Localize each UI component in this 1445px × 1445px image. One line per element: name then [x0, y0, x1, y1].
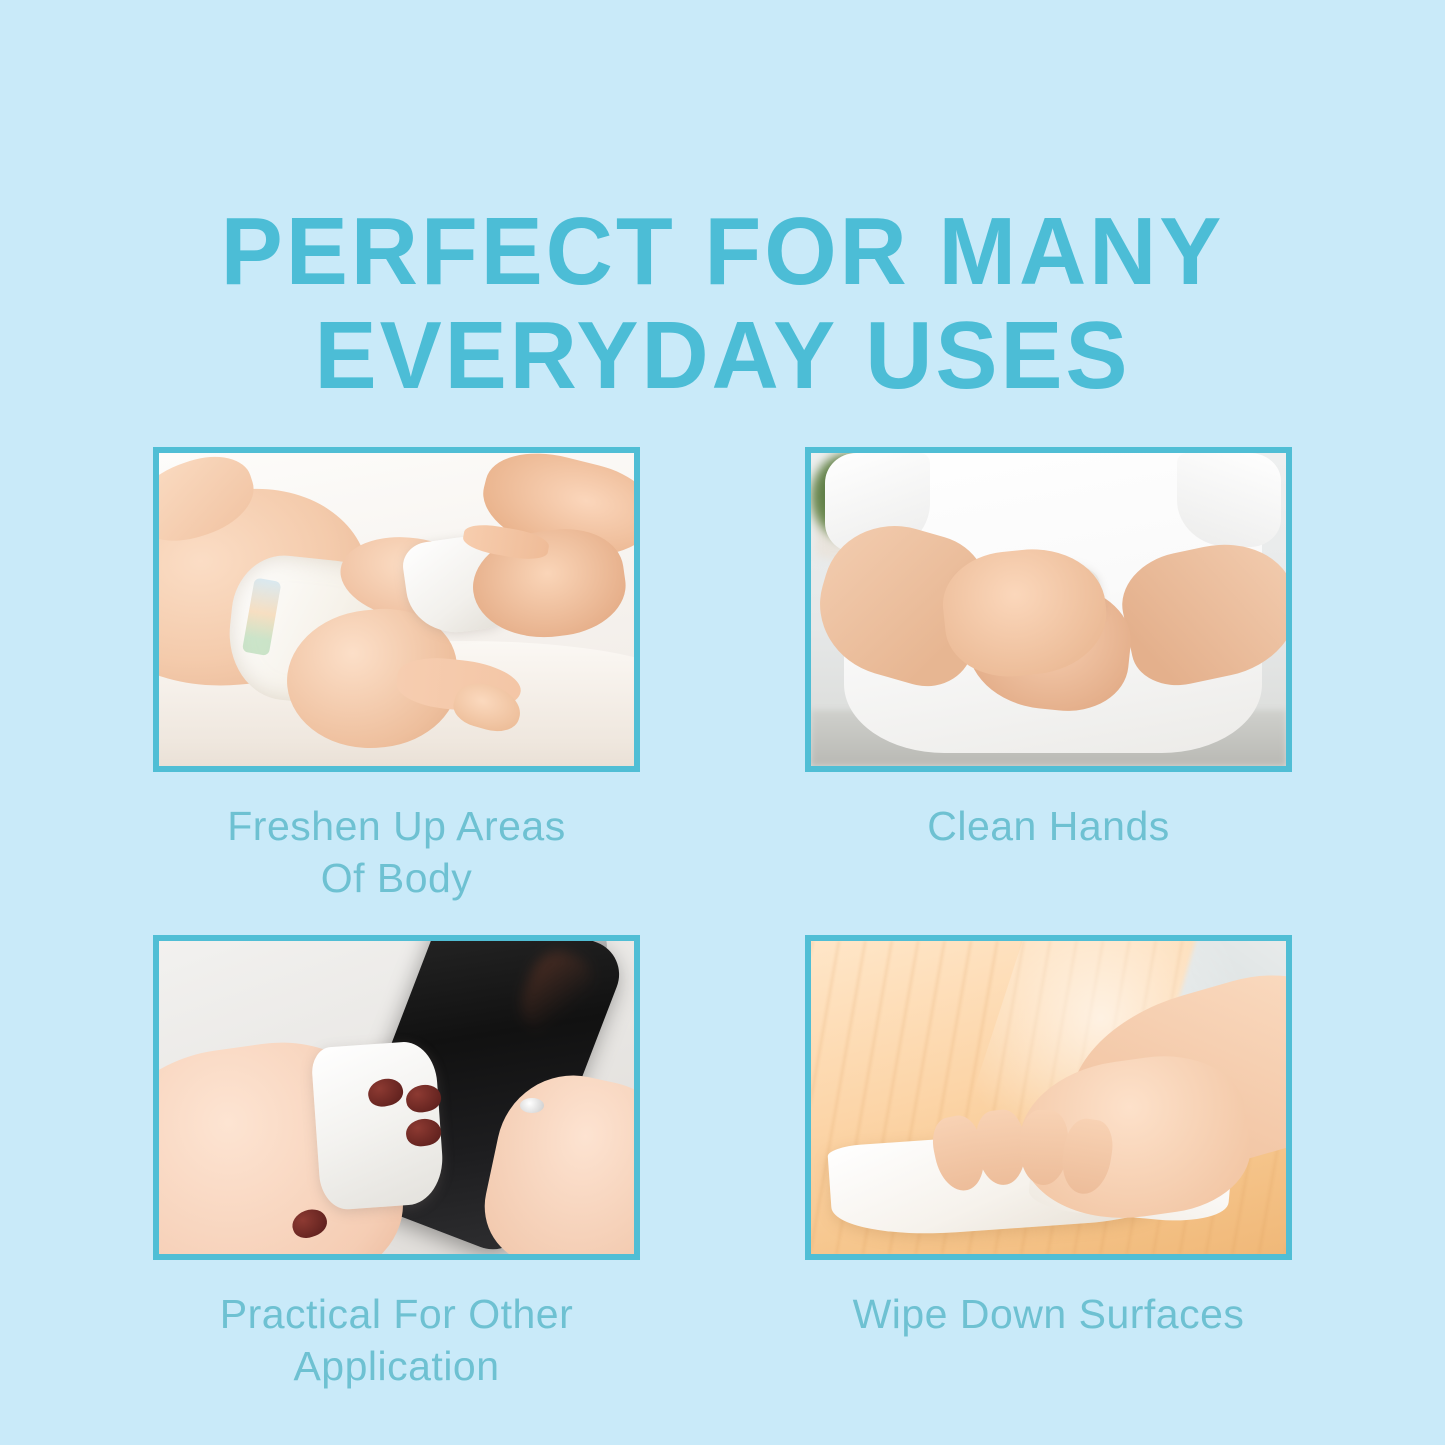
page-title: PERFECT FOR MANY EVERYDAY USES [22, 204, 1424, 404]
use-case-card-freshen-up-areas-of-body: Freshen Up Areas Of Body [153, 447, 640, 904]
photo-baby-diaper-change [159, 453, 634, 766]
use-case-caption-4: Wipe Down Surfaces [805, 1288, 1292, 1340]
page-title-line-1: PERFECT FOR MANY [22, 204, 1424, 300]
photo-frame-4 [805, 935, 1292, 1260]
use-case-caption-3: Practical For Other Application [153, 1288, 640, 1392]
photo-frame-3 [153, 935, 640, 1260]
use-case-card-clean-hands: Clean Hands [805, 447, 1292, 852]
photo-frame-1 [153, 447, 640, 772]
use-case-grid: Freshen Up Areas Of Body [153, 447, 1292, 1262]
photo-cleaning-hands [811, 453, 1286, 766]
use-case-caption-2: Clean Hands [805, 800, 1292, 852]
infographic-page: PERFECT FOR MANY EVERYDAY USES [0, 0, 1445, 1445]
use-case-card-wipe-down-surfaces: Wipe Down Surfaces [805, 935, 1292, 1340]
page-title-line-2: EVERYDAY USES [22, 308, 1424, 404]
photo-wiping-table-surface [811, 941, 1286, 1254]
photo-wiping-smartphone [159, 941, 634, 1254]
photo-frame-2 [805, 447, 1292, 772]
use-case-caption-1: Freshen Up Areas Of Body [153, 800, 640, 904]
use-case-card-practical-for-other-application: Practical For Other Application [153, 935, 640, 1392]
